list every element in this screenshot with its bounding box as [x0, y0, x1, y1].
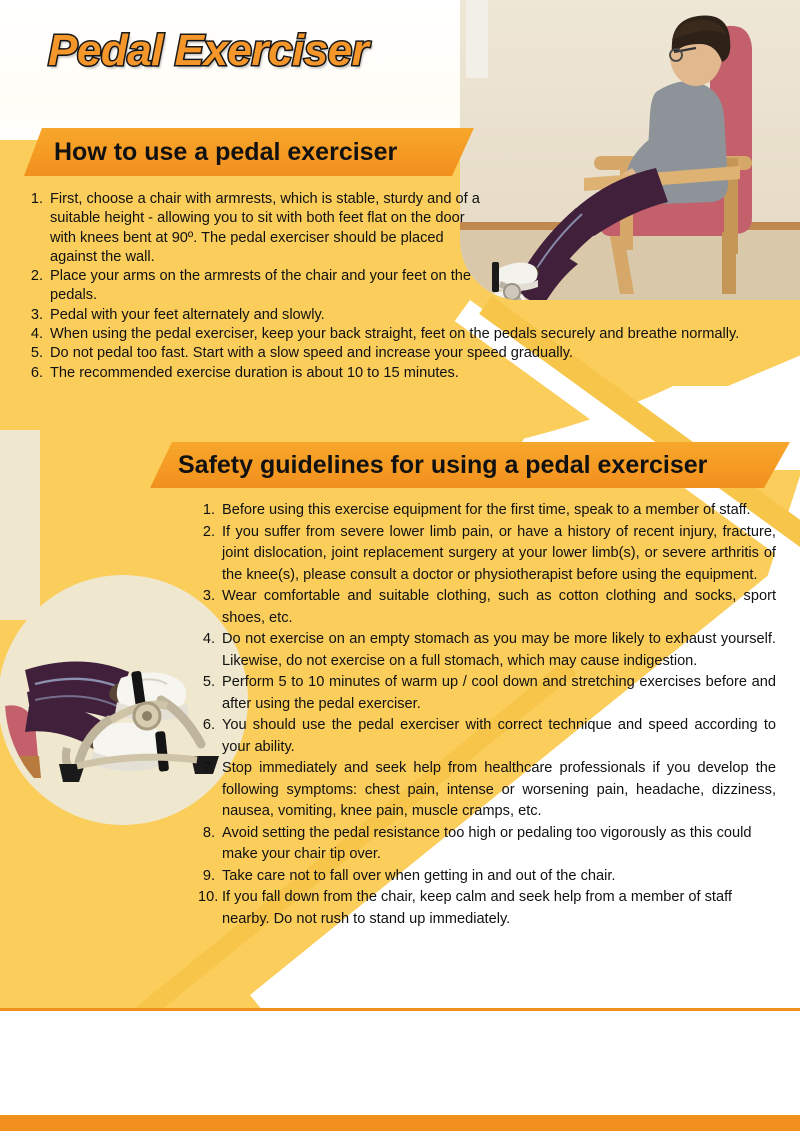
- list-item: 5. Do not pedal too fast. Start with a s…: [30, 344, 742, 363]
- list-text: The recommended exercise duration is abo…: [50, 364, 742, 383]
- list-text: Take care not to fall over when getting …: [222, 866, 776, 888]
- list-text: Avoid setting the pedal resistance too h…: [222, 823, 776, 866]
- list-text: Do not exercise on an empty stomach as y…: [222, 629, 776, 672]
- list-text: If you suffer from severe lower limb pai…: [222, 522, 776, 587]
- list-text: Place your arms on the armrests of the c…: [50, 267, 490, 306]
- list-text: Before using this exercise equipment for…: [222, 500, 776, 522]
- list-text: Perform 5 to 10 minutes of warm up / coo…: [222, 672, 776, 715]
- list-item: 6. The recommended exercise duration is …: [30, 364, 742, 383]
- list-number: 5.: [30, 344, 50, 363]
- list-number: 5.: [198, 672, 222, 694]
- footer: [0, 1011, 800, 1115]
- list-item: 6. You should use the pedal exerciser wi…: [198, 715, 776, 758]
- list-number: 4.: [30, 325, 50, 344]
- list-item: 4. When using the pedal exerciser, keep …: [30, 325, 742, 344]
- list-number: 3.: [198, 586, 222, 608]
- section-heading-how-to: How to use a pedal exerciser: [24, 128, 474, 176]
- list-number: 1.: [198, 500, 222, 522]
- list-text: First, choose a chair with armrests, whi…: [50, 190, 490, 267]
- list-number: 1.: [30, 190, 50, 209]
- bottom-accent-bar: [0, 1115, 800, 1131]
- list-number: 9.: [198, 866, 222, 888]
- list-number: 2.: [30, 267, 50, 286]
- list-item: 2. Place your arms on the armrests of th…: [30, 267, 742, 306]
- page-title: Pedal Exerciser: [48, 26, 368, 76]
- list-item: 3. Pedal with your feet alternately and …: [30, 306, 742, 325]
- list-text: Stop immediately and seek help from heal…: [222, 758, 776, 823]
- section-heading-safety: Safety guidelines for using a pedal exer…: [150, 442, 790, 488]
- list-item: 9. Take care not to fall over when getti…: [198, 866, 776, 888]
- list-text: You should use the pedal exerciser with …: [222, 715, 776, 758]
- list-text: If you fall down from the chair, keep ca…: [222, 887, 776, 930]
- list-number: 6.: [198, 715, 222, 737]
- safety-list: 1. Before using this exercise equipment …: [198, 500, 776, 930]
- list-text: Pedal with your feet alternately and slo…: [50, 306, 742, 325]
- poster-root: Pedal Exerciser How to use a pedal exerc…: [0, 0, 800, 1131]
- list-item: 5. Perform 5 to 10 minutes of warm up / …: [198, 672, 776, 715]
- list-text: When using the pedal exerciser, keep you…: [50, 325, 742, 344]
- cream-strip-left: [0, 430, 40, 620]
- list-text: Wear comfortable and suitable clothing, …: [222, 586, 776, 629]
- list-item: 10. If you fall down from the chair, kee…: [198, 887, 776, 930]
- list-item: 7. Stop immediately and seek help from h…: [198, 758, 776, 823]
- list-item: 1. First, choose a chair with armrests, …: [30, 190, 742, 267]
- list-text: Do not pedal too fast. Start with a slow…: [50, 344, 742, 363]
- list-number: 3.: [30, 306, 50, 325]
- list-number: 8.: [198, 823, 222, 845]
- list-number: 4.: [198, 629, 222, 651]
- how-to-list: 1. First, choose a chair with armrests, …: [30, 190, 742, 383]
- footer-divider: [0, 1008, 800, 1011]
- list-item: 1. Before using this exercise equipment …: [198, 500, 776, 522]
- list-item: 3. Wear comfortable and suitable clothin…: [198, 586, 776, 629]
- list-item: 4. Do not exercise on an empty stomach a…: [198, 629, 776, 672]
- list-item: 8. Avoid setting the pedal resistance to…: [198, 823, 776, 866]
- list-number: 10.: [198, 887, 222, 909]
- list-number: 6.: [30, 364, 50, 383]
- list-item: 2. If you suffer from severe lower limb …: [198, 522, 776, 587]
- list-number: 2.: [198, 522, 222, 544]
- list-number: 7.: [198, 758, 222, 780]
